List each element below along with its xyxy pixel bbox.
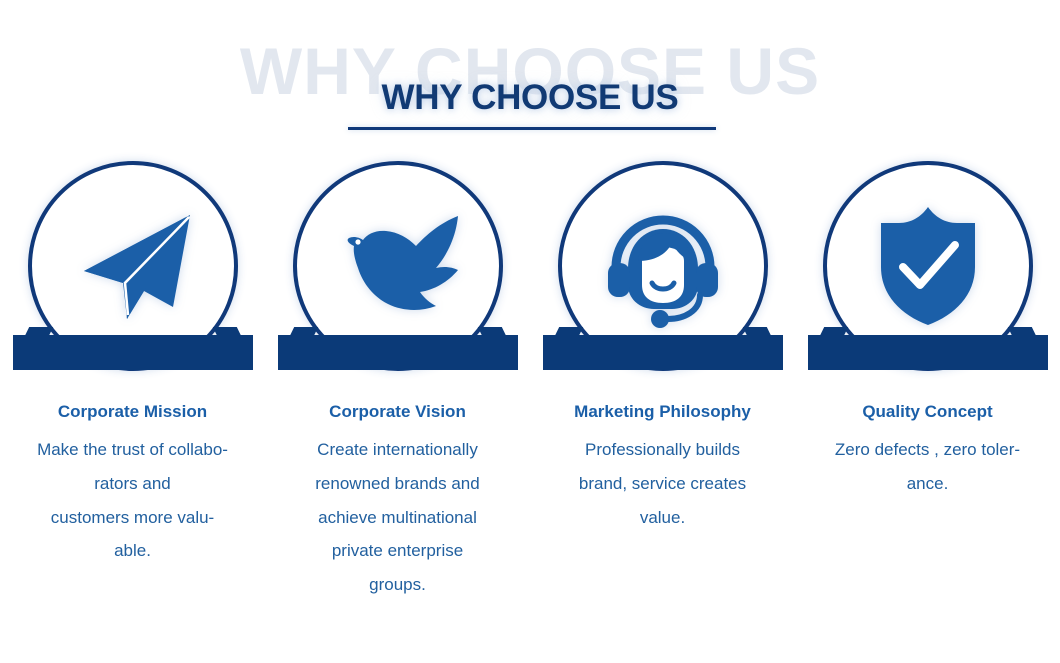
medallion-ribbon-band (278, 335, 518, 370)
medallion-badge (13, 155, 253, 380)
title-underline-divider (348, 127, 716, 130)
medallion-badge (278, 155, 518, 380)
card-body-text: Create internationally renowned brands a… (275, 433, 521, 601)
medallion-ribbon-band (808, 335, 1048, 370)
card-body-text: Zero defects , zero toler- ance. (805, 433, 1051, 500)
feature-card-quality-concept: Quality Concept Zero defects , zero tole… (795, 155, 1060, 602)
medallion-badge (543, 155, 783, 380)
feature-card-row: Corporate Mission Make the trust of coll… (0, 155, 1060, 602)
why-choose-us-section: WHY CHOOSE US WHY CHOOSE US (0, 0, 1060, 663)
card-heading: Marketing Philosophy (574, 402, 751, 422)
feature-card-marketing-philosophy: Marketing Philosophy Professionally buil… (530, 155, 795, 602)
page-title: WHY CHOOSE US (0, 80, 1060, 115)
feature-card-corporate-mission: Corporate Mission Make the trust of coll… (0, 155, 265, 602)
card-heading: Quality Concept (862, 402, 992, 422)
card-heading: Corporate Mission (58, 402, 207, 422)
medallion-badge (808, 155, 1048, 380)
section-header: WHY CHOOSE US WHY CHOOSE US (0, 0, 1060, 150)
feature-card-corporate-vision: Corporate Vision Create internationally … (265, 155, 530, 602)
card-heading: Corporate Vision (329, 402, 466, 422)
medallion-ribbon-band (13, 335, 253, 370)
card-body-text: Make the trust of collabo- rators and cu… (10, 433, 256, 568)
medallion-ribbon-band (543, 335, 783, 370)
card-body-text: Professionally builds brand, service cre… (540, 433, 786, 534)
